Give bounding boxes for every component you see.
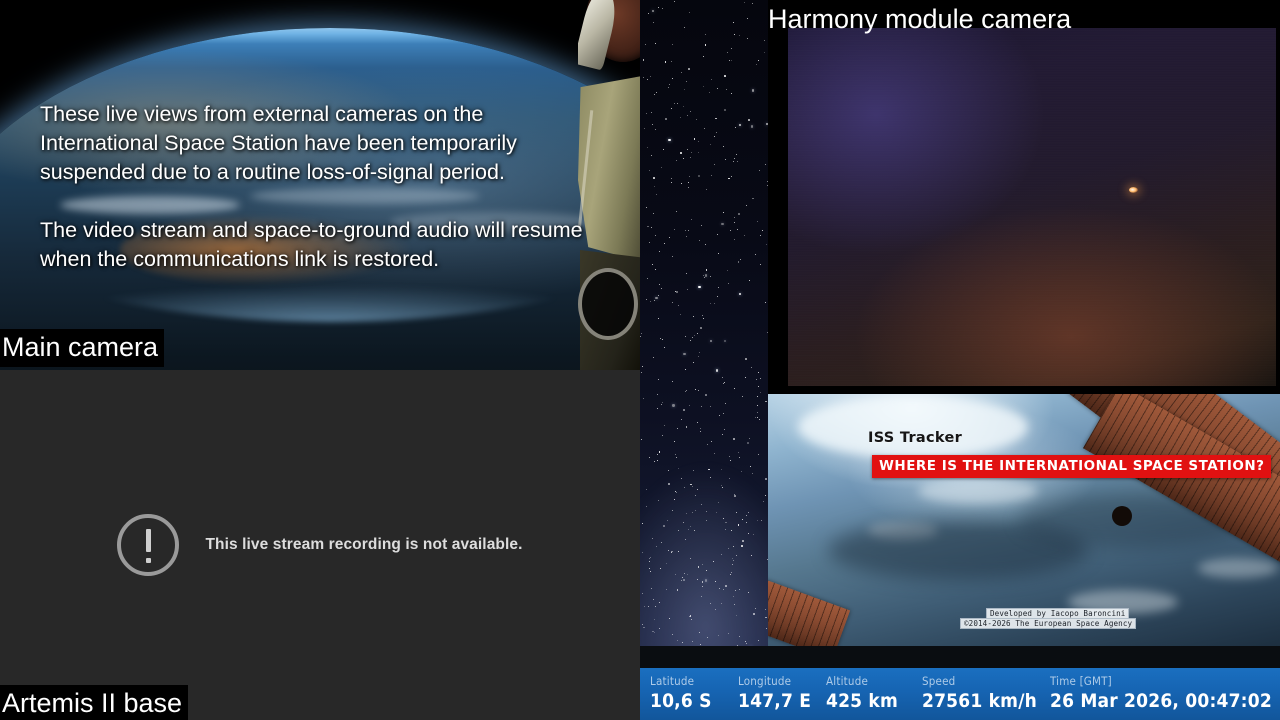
star xyxy=(722,377,723,378)
star xyxy=(746,515,747,516)
star xyxy=(738,213,740,215)
star xyxy=(681,419,682,420)
star xyxy=(641,439,642,440)
star xyxy=(662,339,663,340)
bright-light-point-graphic xyxy=(1129,187,1138,193)
star xyxy=(694,335,695,336)
star xyxy=(646,299,647,300)
star xyxy=(652,10,654,12)
star xyxy=(746,205,747,206)
star xyxy=(689,176,690,177)
star xyxy=(706,189,707,190)
star xyxy=(649,558,650,559)
star xyxy=(724,429,725,430)
star xyxy=(684,89,685,90)
star xyxy=(664,347,665,348)
star xyxy=(680,314,681,315)
star xyxy=(751,125,753,127)
star xyxy=(652,124,653,125)
star xyxy=(737,161,738,162)
telemetry-label-speed: Speed xyxy=(922,674,1050,689)
star xyxy=(742,396,743,397)
solar-panel-hub-graphic xyxy=(1112,506,1132,526)
telemetry-value-speed: 27561 km/h xyxy=(922,689,1050,713)
star xyxy=(721,223,723,225)
star xyxy=(714,303,715,304)
star xyxy=(723,413,724,414)
star xyxy=(655,43,656,44)
star xyxy=(643,77,644,78)
telemetry-field-latitude: Latitude 10,6 S xyxy=(650,674,738,713)
iss-tracker-banner: WHERE IS THE INTERNATIONAL SPACE STATION… xyxy=(872,455,1271,478)
star xyxy=(657,454,658,455)
star xyxy=(678,468,679,469)
star xyxy=(731,176,732,177)
star xyxy=(739,293,741,295)
telemetry-value-time: 26 Mar 2026, 00:47:02 xyxy=(1050,689,1272,713)
star xyxy=(674,103,675,104)
earth-cloud xyxy=(798,396,1028,458)
star xyxy=(646,506,647,507)
star xyxy=(681,183,682,184)
star xyxy=(727,52,728,53)
star xyxy=(744,235,745,236)
star xyxy=(684,573,685,574)
star xyxy=(672,404,674,406)
star xyxy=(759,419,760,420)
star xyxy=(660,568,661,569)
star xyxy=(731,60,732,61)
star xyxy=(706,269,708,271)
star xyxy=(685,391,686,392)
star xyxy=(676,211,677,212)
telemetry-field-longitude: Longitude 147,7 E xyxy=(738,674,826,713)
star xyxy=(734,158,735,159)
star xyxy=(661,404,662,405)
star xyxy=(683,522,684,523)
telemetry-label-time: Time [GMT] xyxy=(1050,674,1272,689)
star xyxy=(649,242,650,243)
star xyxy=(705,34,706,35)
star xyxy=(688,182,689,183)
star xyxy=(746,643,747,644)
star xyxy=(691,219,692,220)
star xyxy=(752,89,754,91)
star xyxy=(687,115,688,116)
star xyxy=(699,632,700,633)
star xyxy=(718,253,719,254)
star xyxy=(766,244,767,245)
star xyxy=(697,333,698,334)
star xyxy=(697,489,698,490)
star xyxy=(662,402,663,403)
main-camera-label: Main camera xyxy=(0,329,164,367)
star xyxy=(714,136,715,137)
star xyxy=(651,112,652,113)
star xyxy=(675,454,676,455)
star xyxy=(668,483,670,485)
star xyxy=(731,530,732,531)
module-ring-graphic xyxy=(578,268,638,340)
star xyxy=(663,149,664,150)
star xyxy=(734,222,735,223)
star xyxy=(700,644,701,645)
star xyxy=(648,13,649,14)
star xyxy=(740,259,741,260)
star xyxy=(728,283,729,284)
star xyxy=(647,147,648,148)
star xyxy=(674,441,675,442)
star xyxy=(765,164,766,165)
star xyxy=(681,72,682,73)
star xyxy=(641,372,642,373)
star xyxy=(685,369,686,370)
star xyxy=(698,356,699,357)
star xyxy=(752,198,754,200)
star xyxy=(705,394,707,396)
star xyxy=(736,154,737,155)
star xyxy=(655,129,656,130)
star xyxy=(749,438,750,439)
star xyxy=(764,52,765,53)
star xyxy=(690,157,691,158)
star xyxy=(696,119,697,120)
star xyxy=(676,492,677,493)
star xyxy=(652,264,653,265)
star xyxy=(698,141,699,142)
star xyxy=(644,128,645,129)
star xyxy=(687,149,688,150)
star xyxy=(767,181,768,182)
star xyxy=(760,264,761,265)
star xyxy=(752,3,753,4)
star xyxy=(657,394,658,395)
harmony-module-video-panel[interactable] xyxy=(788,28,1276,386)
star xyxy=(725,403,726,404)
star xyxy=(659,284,660,285)
star xyxy=(762,230,763,231)
star xyxy=(700,327,702,329)
star xyxy=(739,35,740,36)
star xyxy=(710,340,712,342)
star xyxy=(729,456,730,457)
star xyxy=(658,7,659,8)
star xyxy=(672,78,673,79)
star xyxy=(668,87,669,88)
star xyxy=(653,213,654,214)
star xyxy=(651,227,652,228)
star xyxy=(758,386,759,387)
star xyxy=(689,12,690,13)
star xyxy=(731,93,732,94)
star xyxy=(671,108,672,109)
star xyxy=(725,159,726,160)
star xyxy=(653,177,655,179)
iss-tracker-title: ISS Tracker xyxy=(868,430,962,446)
star xyxy=(715,609,716,610)
star xyxy=(717,296,718,297)
star xyxy=(685,230,686,231)
star xyxy=(665,118,667,120)
star xyxy=(711,79,712,80)
star xyxy=(661,542,662,543)
star xyxy=(669,618,670,619)
star xyxy=(647,278,648,279)
star xyxy=(640,336,641,337)
star xyxy=(758,372,759,373)
loss-of-signal-paragraph-2: The video stream and space-to-ground aud… xyxy=(40,216,600,274)
artemis-base-video-panel[interactable]: This live stream recording is not availa… xyxy=(0,370,640,720)
star xyxy=(724,340,726,342)
star xyxy=(705,579,707,581)
star xyxy=(719,588,720,589)
star xyxy=(675,574,676,575)
star xyxy=(662,435,663,436)
star xyxy=(654,461,655,462)
star xyxy=(644,606,645,607)
star xyxy=(641,333,642,334)
star xyxy=(738,261,740,263)
star xyxy=(674,1,675,2)
star xyxy=(765,478,767,480)
star xyxy=(710,303,711,304)
star xyxy=(688,230,689,231)
star xyxy=(718,287,719,288)
star xyxy=(671,61,672,62)
star xyxy=(722,434,723,435)
star xyxy=(668,139,670,141)
star xyxy=(688,68,690,70)
star xyxy=(706,511,707,512)
star xyxy=(698,390,699,391)
star xyxy=(686,513,687,514)
star xyxy=(654,94,655,95)
star xyxy=(643,59,645,61)
star xyxy=(703,86,704,87)
star xyxy=(651,155,652,156)
star xyxy=(710,406,711,407)
star xyxy=(734,239,735,240)
loss-of-signal-overlay: These live views from external cameras o… xyxy=(40,100,600,274)
star xyxy=(729,60,730,61)
star xyxy=(654,300,655,301)
star xyxy=(705,244,706,245)
star xyxy=(677,640,678,641)
star xyxy=(656,194,657,195)
star xyxy=(745,358,747,360)
star xyxy=(715,118,717,120)
star xyxy=(693,316,694,317)
star xyxy=(717,88,718,89)
star xyxy=(757,221,758,222)
star xyxy=(765,401,767,403)
star xyxy=(755,417,756,418)
star xyxy=(677,589,679,591)
star xyxy=(755,254,756,255)
harmony-module-label: Harmony module camera xyxy=(768,2,1071,36)
star xyxy=(757,417,758,418)
star xyxy=(742,540,744,542)
star xyxy=(692,337,693,338)
star xyxy=(751,367,752,368)
star xyxy=(765,495,766,496)
star xyxy=(685,336,686,337)
star xyxy=(739,124,741,126)
star xyxy=(650,557,651,558)
star xyxy=(642,523,643,524)
star xyxy=(692,641,693,642)
star xyxy=(698,286,700,288)
star xyxy=(721,485,722,486)
star xyxy=(671,182,672,183)
main-camera-video-panel[interactable]: These live views from external cameras o… xyxy=(0,0,640,370)
star xyxy=(647,79,648,80)
star xyxy=(659,451,661,453)
star xyxy=(710,603,711,604)
star xyxy=(724,109,726,111)
star xyxy=(714,453,715,454)
star xyxy=(724,75,726,77)
star xyxy=(695,389,696,390)
star xyxy=(669,237,670,238)
stream-unavailable-text: This live stream recording is not availa… xyxy=(205,536,522,554)
star xyxy=(756,64,757,65)
star xyxy=(723,146,724,147)
star xyxy=(764,40,765,41)
star xyxy=(748,512,749,513)
star xyxy=(664,425,665,426)
star xyxy=(656,546,657,547)
star xyxy=(704,277,705,278)
star xyxy=(666,563,667,564)
star xyxy=(706,520,707,521)
iss-tracker-video-panel[interactable]: ISS Tracker WHERE IS THE INTERNATIONAL S… xyxy=(768,394,1280,646)
star xyxy=(683,158,684,159)
iss-multiview-screen: These live views from external cameras o… xyxy=(0,0,1280,720)
star xyxy=(702,315,703,316)
star xyxy=(723,518,724,519)
star xyxy=(730,460,731,461)
star xyxy=(646,207,647,208)
star xyxy=(691,152,692,153)
star xyxy=(705,274,707,276)
star xyxy=(655,235,656,236)
star xyxy=(680,152,682,154)
star xyxy=(672,381,673,382)
star xyxy=(703,56,704,57)
star xyxy=(748,592,749,593)
telemetry-value-latitude: 10,6 S xyxy=(650,689,738,713)
telemetry-field-altitude: Altitude 425 km xyxy=(826,674,922,713)
star xyxy=(757,412,758,413)
star xyxy=(704,128,705,129)
star xyxy=(677,428,678,429)
star xyxy=(642,593,643,594)
star xyxy=(686,426,688,428)
telemetry-value-altitude: 425 km xyxy=(826,689,922,713)
star xyxy=(686,273,687,274)
star xyxy=(738,452,739,453)
star xyxy=(671,178,672,179)
star xyxy=(734,388,735,389)
star xyxy=(672,44,673,45)
star xyxy=(661,288,662,289)
telemetry-data-bar: Latitude 10,6 S Longitude 147,7 E Altitu… xyxy=(640,668,1280,720)
star xyxy=(686,390,687,391)
star xyxy=(697,579,698,580)
telemetry-label-altitude: Altitude xyxy=(826,674,922,689)
star xyxy=(734,34,735,35)
star xyxy=(701,406,702,407)
milky-way-glow-graphic xyxy=(640,458,768,668)
star xyxy=(678,305,679,306)
telemetry-field-speed: Speed 27561 km/h xyxy=(922,674,1050,713)
star xyxy=(710,276,711,277)
star xyxy=(689,616,690,617)
star xyxy=(650,76,651,77)
star xyxy=(683,106,684,107)
star xyxy=(747,38,748,39)
star xyxy=(699,352,700,353)
star xyxy=(730,574,731,575)
star xyxy=(719,415,721,417)
star xyxy=(643,398,644,399)
star xyxy=(655,269,656,270)
star xyxy=(767,185,768,186)
star xyxy=(757,396,758,397)
star xyxy=(676,291,678,293)
sensor-noise-graphic xyxy=(788,28,1276,386)
star xyxy=(765,302,766,303)
star xyxy=(681,580,682,581)
left-column: These live views from external cameras o… xyxy=(0,0,640,720)
star xyxy=(650,301,652,303)
star xyxy=(724,382,725,383)
star xyxy=(642,624,643,625)
star xyxy=(684,27,685,28)
star xyxy=(687,289,688,290)
star xyxy=(733,438,735,440)
star xyxy=(714,164,715,165)
star xyxy=(733,161,734,162)
star xyxy=(646,113,647,114)
star xyxy=(686,81,687,82)
star xyxy=(660,338,661,339)
starfield-strip-graphic xyxy=(640,0,768,668)
star xyxy=(653,22,654,23)
star xyxy=(687,574,688,575)
star xyxy=(730,230,731,231)
star xyxy=(709,92,710,93)
star xyxy=(676,160,677,161)
telemetry-field-time: Time [GMT] 26 Mar 2026, 00:47:02 xyxy=(1050,674,1272,713)
exclamation-circle-icon xyxy=(117,514,179,576)
star xyxy=(664,243,665,244)
star xyxy=(694,138,696,140)
star xyxy=(682,642,683,643)
star xyxy=(649,170,650,171)
star xyxy=(707,444,708,445)
star xyxy=(683,409,685,411)
star xyxy=(689,405,690,406)
star xyxy=(654,632,655,633)
star xyxy=(661,167,662,168)
star xyxy=(682,577,683,578)
star xyxy=(722,487,723,488)
star xyxy=(684,487,685,488)
star xyxy=(645,44,646,45)
star xyxy=(669,84,670,85)
